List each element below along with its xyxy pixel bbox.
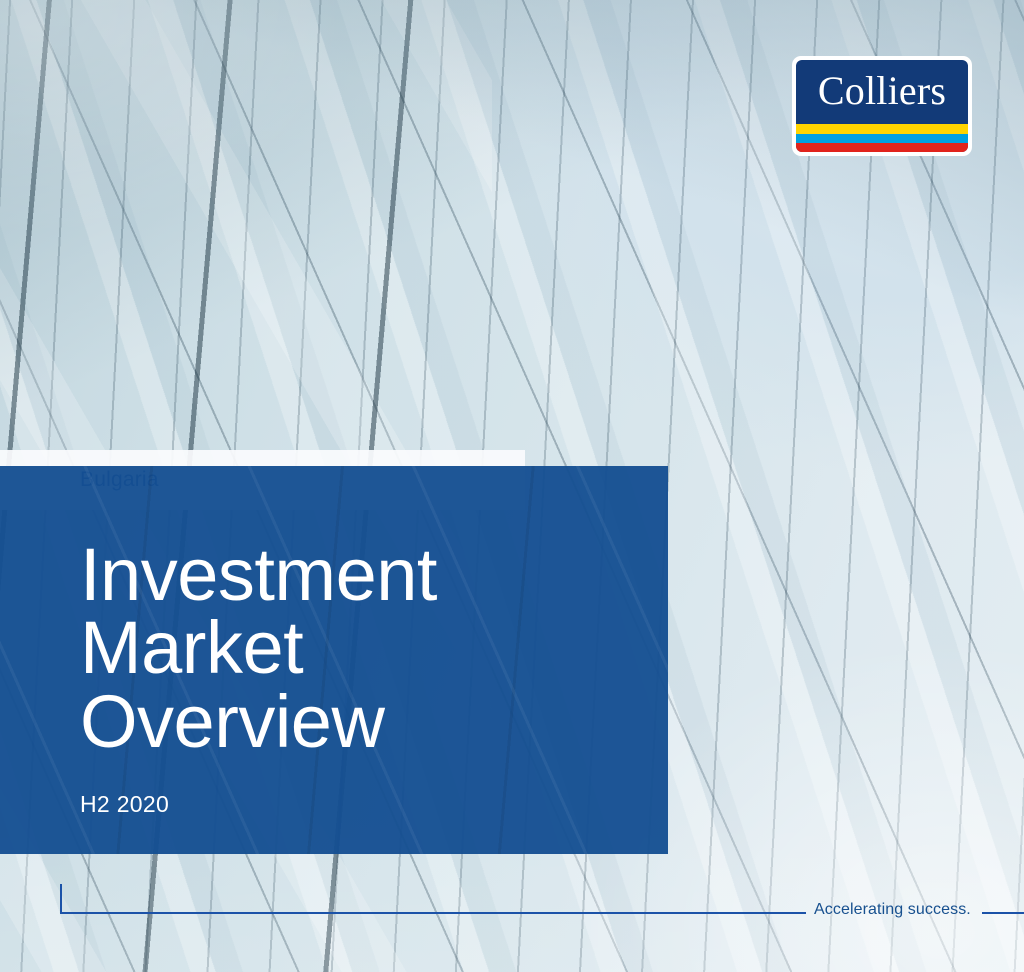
report-cover-page: Colliers Bulgaria Investment Market Over… [0,0,1024,972]
brand-tagline: Accelerating success. [814,901,971,919]
logo-inner-panel: Colliers [796,60,968,152]
cyan-stripe [796,134,968,143]
logo-stripe-bar [796,124,968,152]
colliers-logo: Colliers [792,56,972,156]
red-stripe [796,143,968,152]
footer-rule-left [60,912,806,914]
report-period: H2 2020 [80,791,169,818]
footer-rule-tick [60,884,62,913]
logo-wordmark-text: Colliers [796,60,968,124]
footer-rule-right [982,912,1024,914]
title-block: Investment Market Overview H2 2020 [0,466,668,854]
page-title: Investment Market Overview [80,538,437,758]
yellow-stripe [796,124,968,133]
